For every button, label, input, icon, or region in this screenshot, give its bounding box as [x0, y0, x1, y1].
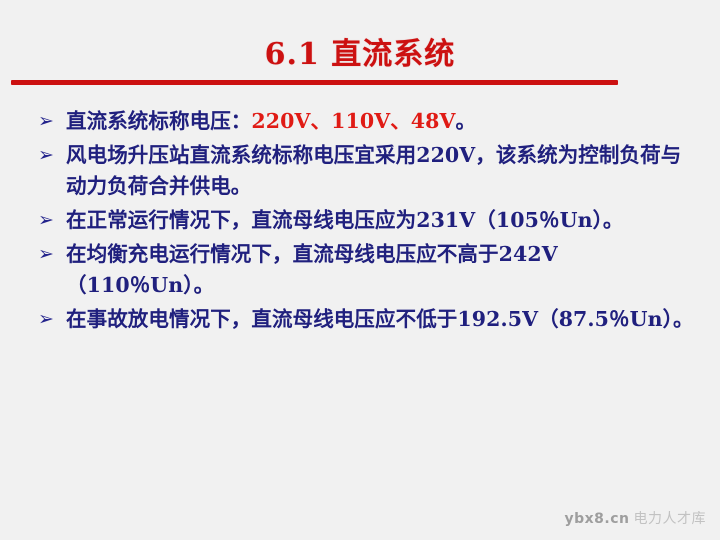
arrow-bullet-icon: ➢ — [38, 205, 66, 236]
text-segment: 在事故放电情况下，直流母线电压应不低于192.5V（87.5％Un）。 — [66, 307, 694, 331]
arrow-bullet-icon: ➢ — [38, 304, 66, 335]
watermark: ybx8.cn电力人才库 — [564, 508, 706, 528]
watermark-name: 电力人才库 — [634, 511, 707, 527]
arrow-bullet-icon: ➢ — [38, 106, 66, 137]
text-segment: 。 — [456, 109, 477, 133]
text-segment: 在均衡充电运行情况下，直流母线电压应不高于242V（110％Un）。 — [66, 242, 558, 297]
list-item-text: 风电场升压站直流系统标称电压宜采用220V，该系统为控制负荷与动力负荷合并供电。 — [66, 140, 698, 202]
text-segment: 220V、110V、48V — [251, 109, 455, 133]
text-segment: 直流系统标称电压： — [66, 109, 251, 133]
arrow-bullet-icon: ➢ — [38, 140, 66, 171]
watermark-domain: ybx8.cn — [564, 511, 629, 527]
list-item: ➢风电场升压站直流系统标称电压宜采用220V，该系统为控制负荷与动力负荷合并供电… — [38, 140, 698, 202]
list-item: ➢在正常运行情况下，直流母线电压应为231V（105％Un）。 — [38, 205, 698, 236]
text-segment: 在正常运行情况下，直流母线电压应为231V（105％Un）。 — [66, 208, 624, 232]
list-item-text: 直流系统标称电压：220V、110V、48V。 — [66, 106, 698, 137]
page-title: 6.1 直流系统 — [0, 38, 720, 73]
bullet-list: ➢直流系统标称电压：220V、110V、48V。➢风电场升压站直流系统标称电压宜… — [38, 106, 698, 338]
slide-canvas: 6.1 直流系统 ➢直流系统标称电压：220V、110V、48V。➢风电场升压站… — [0, 0, 720, 540]
list-item-text: 在均衡充电运行情况下，直流母线电压应不高于242V（110％Un）。 — [66, 239, 698, 301]
list-item: ➢直流系统标称电压：220V、110V、48V。 — [38, 106, 698, 137]
arrow-bullet-icon: ➢ — [38, 239, 66, 270]
list-item-text: 在事故放电情况下，直流母线电压应不低于192.5V（87.5％Un）。 — [66, 304, 698, 335]
title-underline-rule — [11, 80, 618, 85]
list-item-text: 在正常运行情况下，直流母线电压应为231V（105％Un）。 — [66, 205, 698, 236]
title-block: 6.1 直流系统 — [0, 38, 720, 73]
list-item: ➢在事故放电情况下，直流母线电压应不低于192.5V（87.5％Un）。 — [38, 304, 698, 335]
list-item: ➢在均衡充电运行情况下，直流母线电压应不高于242V（110％Un）。 — [38, 239, 698, 301]
text-segment: 风电场升压站直流系统标称电压宜采用220V，该系统为控制负荷与动力负荷合并供电。 — [66, 143, 681, 198]
